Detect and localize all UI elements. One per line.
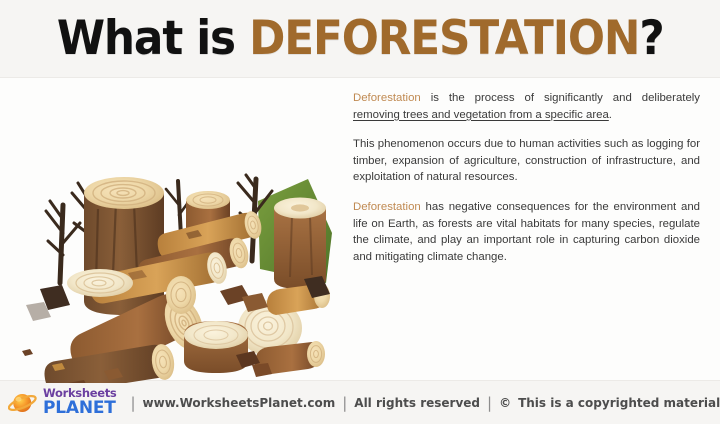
paragraph-definition: Deforestation is the process of signific… — [353, 90, 700, 123]
causes-text: This phenomenon occurs due to human acti… — [353, 138, 700, 183]
paragraph-consequences: Deforestation has negative consequences … — [353, 199, 700, 265]
title-question-mark: ? — [639, 11, 663, 66]
footer-website-link[interactable]: www.WorksheetsPlanet.com — [143, 396, 336, 410]
log-disc-left — [67, 269, 133, 297]
paragraph-causes: This phenomenon occurs due to human acti… — [353, 136, 700, 186]
logo-bottom-word: PLANET — [43, 400, 116, 417]
footer-separator-1: | — [130, 394, 135, 412]
text-pane: Deforestation is the process of signific… — [345, 82, 720, 384]
worksheets-planet-logo[interactable]: Worksheets PLANET — [8, 388, 116, 418]
right-stump — [274, 198, 326, 290]
page-header: What is DEFORESTATION? — [0, 0, 720, 78]
illustration-pane — [0, 82, 345, 384]
footer-copyright-text: This is a copyrighted material — [518, 396, 720, 410]
footer-credits: | www.WorksheetsPlanet.com | All rights … — [130, 394, 720, 412]
planet-icon — [8, 390, 38, 416]
copyright-symbol: © — [499, 396, 511, 410]
keyword-deforestation-1: Deforestation — [353, 92, 421, 104]
footer-rights-text: All rights reserved — [354, 396, 480, 410]
footer-separator-3: | — [487, 394, 492, 412]
definition-lead-text: is the process of significantly and deli… — [421, 92, 700, 104]
deforestation-infographic: What is DEFORESTATION? — [0, 0, 720, 424]
keyword-deforestation-2: Deforestation — [353, 201, 421, 213]
page-footer: Worksheets PLANET | www.WorksheetsPlanet… — [0, 380, 720, 424]
logo-wordmark: Worksheets PLANET — [43, 388, 116, 418]
content-body: Deforestation is the process of signific… — [0, 78, 720, 380]
page-title: What is DEFORESTATION? — [57, 15, 664, 62]
definition-underlined-text: removing trees and vegetation from a spe… — [353, 109, 609, 121]
footer-separator-2: | — [342, 394, 347, 412]
title-highlight-text: DEFORESTATION — [249, 11, 639, 66]
definition-period: . — [609, 109, 612, 121]
title-plain-text: What is — [57, 11, 249, 66]
log-disc-lying — [184, 321, 248, 373]
logs-illustration — [8, 83, 338, 383]
log-disc-center — [166, 276, 196, 314]
